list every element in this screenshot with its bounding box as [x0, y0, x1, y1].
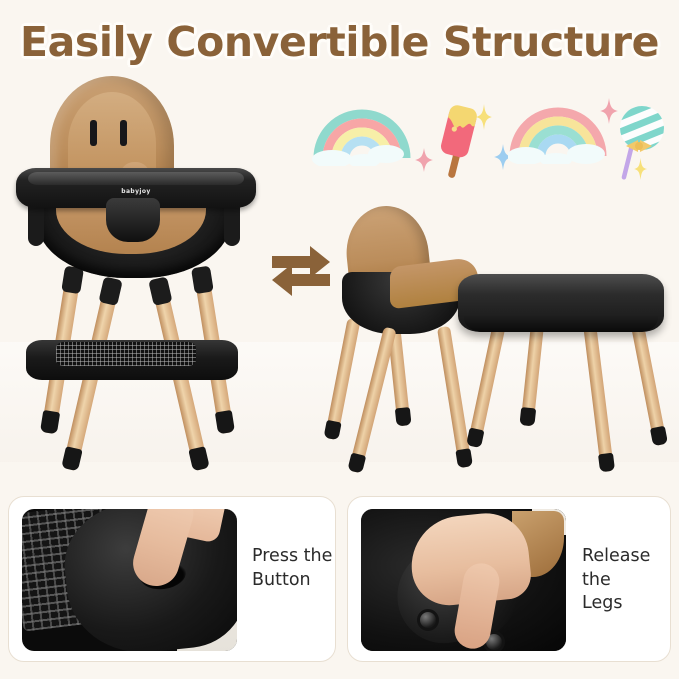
product-feature-page: Easily Convertible Structure — [0, 0, 679, 679]
play-table-top[interactable] — [458, 274, 664, 332]
tray-lip — [28, 172, 244, 185]
low-chair-leg-rear-left — [324, 318, 360, 440]
decorative-stickers — [312, 96, 672, 180]
low-chair-leg-front-left — [348, 327, 396, 474]
safety-harness-buckle — [106, 198, 160, 242]
press-the-button-card[interactable]: Press the Button — [8, 496, 336, 662]
page-title: Easily Convertible Structure — [0, 18, 679, 66]
footrest-button-photo — [22, 509, 237, 651]
table-leg-rear-right — [630, 318, 667, 446]
sparkle-yellow-sticker — [476, 104, 492, 130]
convert-arrows-icon — [268, 240, 334, 302]
table-leg-front-left — [467, 322, 506, 448]
converted-set-illustration — [330, 210, 670, 490]
brand-logo: babyjoy — [121, 188, 150, 195]
rainbow-cloud-sticker — [312, 104, 412, 166]
high-chair-illustration: babyjoy — [10, 70, 290, 470]
press-the-button-caption: Press the Button — [252, 545, 332, 592]
table-edge — [464, 316, 658, 332]
low-chair-leg-front-right — [437, 326, 472, 468]
sparkle-yellow-sticker-2 — [634, 158, 647, 180]
harness-strap-left — [90, 120, 97, 146]
mounting-screw-left — [417, 609, 439, 631]
instruction-cards: Press the Button Release the Legs — [0, 496, 679, 666]
release-the-legs-card[interactable]: Release the Legs — [347, 496, 671, 662]
footrest-mesh-texture — [56, 342, 196, 366]
leg-release-photo — [361, 509, 566, 651]
harness-strap-right — [120, 120, 127, 146]
table-leg-front-right — [583, 322, 614, 472]
release-the-legs-caption: Release the Legs — [582, 545, 670, 616]
rainbow-cloud-sticker-2 — [508, 102, 608, 164]
table-leg-rear-left — [520, 318, 544, 427]
